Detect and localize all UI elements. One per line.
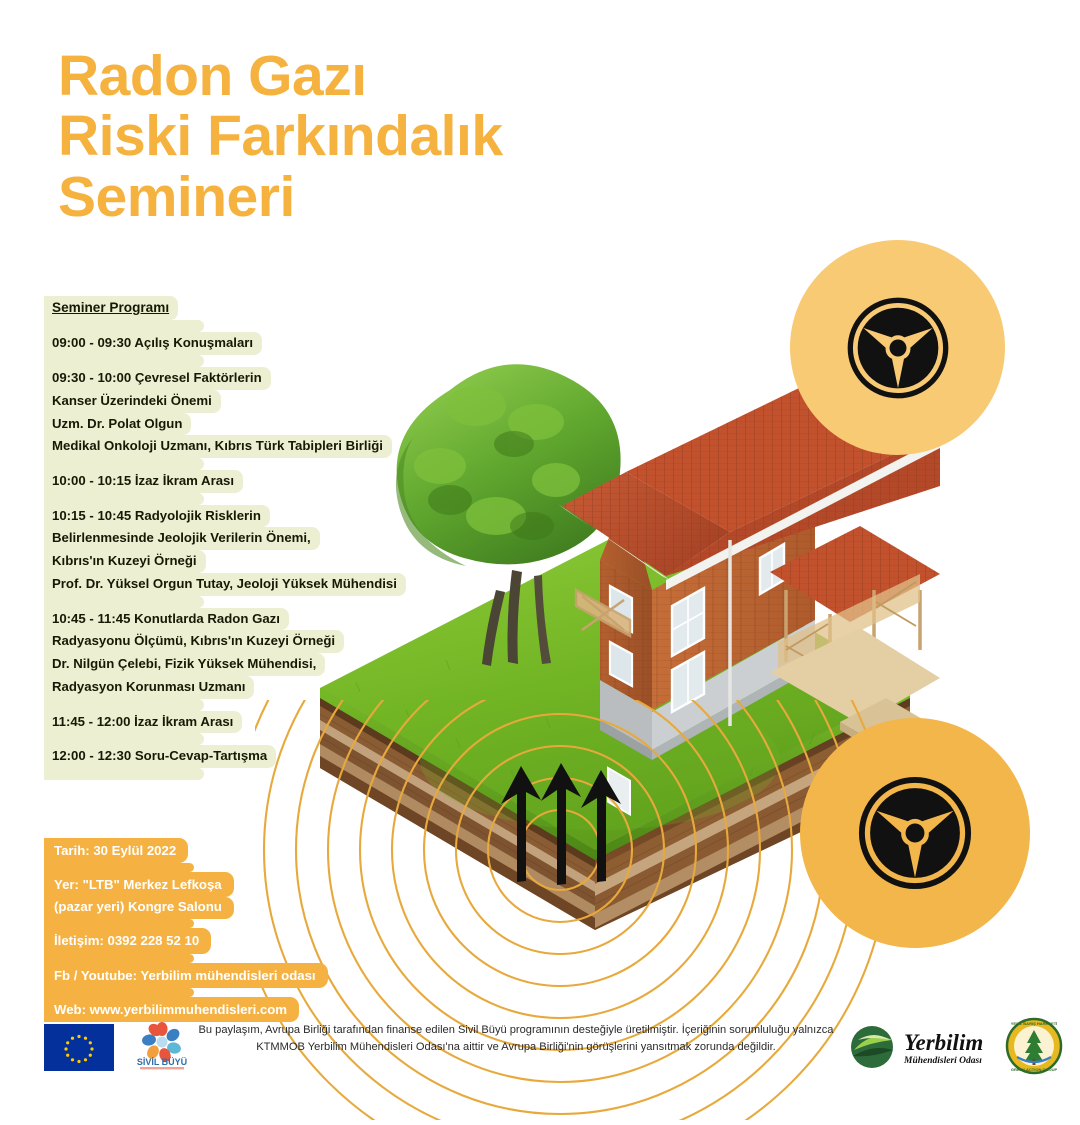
- program-item-detail: Dr. Nilgün Çelebi, Fizik Yüksek Mühendis…: [44, 653, 325, 676]
- program-item: 09:30 - 10:00 Çevresel FaktörlerinKanser…: [44, 367, 474, 470]
- program-item: 12:00 - 12:30 Soru-Cevap-Tartışma: [44, 745, 474, 780]
- program-spacer: [44, 320, 204, 332]
- program-item-detail: Kanser Üzerindeki Önemi: [44, 390, 221, 413]
- page-title: Radon Gazı Riski Farkındalık Semineri: [58, 46, 503, 227]
- contact-gap-3: [44, 954, 194, 963]
- program-item-detail: Medikal Onkoloji Uzmanı, Kıbrıs Türk Tab…: [44, 435, 392, 458]
- program-item-time: 12:00 - 12:30 Soru-Cevap-Tartışma: [44, 745, 276, 768]
- radiation-trefoil-icon: [856, 774, 974, 892]
- event-phone[interactable]: İletişim: 0392 228 52 10: [44, 928, 211, 953]
- footer-disclaimer: Bu paylaşım, Avrupa Birliği tarafından f…: [196, 1022, 836, 1055]
- event-social[interactable]: Fb / Youtube: Yerbilim mühendisleri odas…: [44, 963, 328, 988]
- program-item-detail: Radyasyon Korunması Uzmanı: [44, 676, 254, 699]
- contact-gap-4: [44, 988, 194, 997]
- radon-gas-up-arrows-icon: [495, 760, 635, 885]
- contact-gap-2: [44, 919, 194, 928]
- program-spacer: [44, 355, 204, 367]
- program-items-list: 09:00 - 09:30 Açılış Konuşmaları09:30 - …: [44, 332, 474, 780]
- program-item: 09:00 - 09:30 Açılış Konuşmaları: [44, 332, 474, 367]
- contact-gap-1: [44, 863, 194, 872]
- program-spacer: [44, 493, 204, 505]
- radiation-trefoil-icon: [845, 295, 951, 401]
- program-item-time: 10:00 - 10:15 İzaz İkram Arası: [44, 470, 243, 493]
- program-spacer: [44, 768, 204, 780]
- program-item-time: 10:45 - 11:45 Konutlarda Radon Gazı: [44, 608, 289, 631]
- program-spacer: [44, 733, 204, 745]
- program-spacer: [44, 699, 204, 711]
- event-contact-block: Tarih: 30 Eylül 2022 Yer: "LTB" Merkez L…: [44, 838, 464, 1022]
- radiation-circle-bottom: [800, 718, 1030, 948]
- program-item-time: 09:30 - 10:00 Çevresel Faktörlerin: [44, 367, 271, 390]
- event-venue-line2: (pazar yeri) Kongre Salonu: [44, 897, 234, 919]
- program-item-detail: Prof. Dr. Yüksel Orgun Tutay, Jeoloji Yü…: [44, 573, 406, 596]
- event-venue-line1: Yer: "LTB" Merkez Lefkoşa: [44, 872, 234, 897]
- radiation-circle-top: [790, 240, 1005, 455]
- program-item: 10:00 - 10:15 İzaz İkram Arası: [44, 470, 474, 505]
- program-spacer: [44, 458, 204, 470]
- program-item: 11:45 - 12:00 İzaz İkram Arası: [44, 711, 474, 746]
- program-item-detail: Uzm. Dr. Polat Olgun: [44, 413, 191, 436]
- program-item-detail: Belirlenmesinde Jeolojik Verilerin Önemi…: [44, 527, 320, 550]
- program-item-detail: Kıbrıs'ın Kuzeyi Örneği: [44, 550, 206, 573]
- program-item-time: 11:45 - 12:00 İzaz İkram Arası: [44, 711, 242, 734]
- seminar-program-panel: Seminer Programı 09:00 - 09:30 Açılış Ko…: [44, 296, 474, 780]
- event-date: Tarih: 30 Eylül 2022: [44, 838, 188, 863]
- program-item-time: 09:00 - 09:30 Açılış Konuşmaları: [44, 332, 262, 355]
- program-item: 10:15 - 10:45 Radyolojik RisklerinBelirl…: [44, 505, 474, 608]
- program-spacer: [44, 596, 204, 608]
- program-item: 10:45 - 11:45 Konutlarda Radon GazıRadya…: [44, 608, 474, 711]
- program-heading: Seminer Programı: [44, 296, 178, 320]
- program-item-detail: Radyasyonu Ölçümü, Kıbrıs'ın Kuzeyi Örne…: [44, 630, 344, 653]
- program-item-time: 10:15 - 10:45 Radyolojik Risklerin: [44, 505, 270, 528]
